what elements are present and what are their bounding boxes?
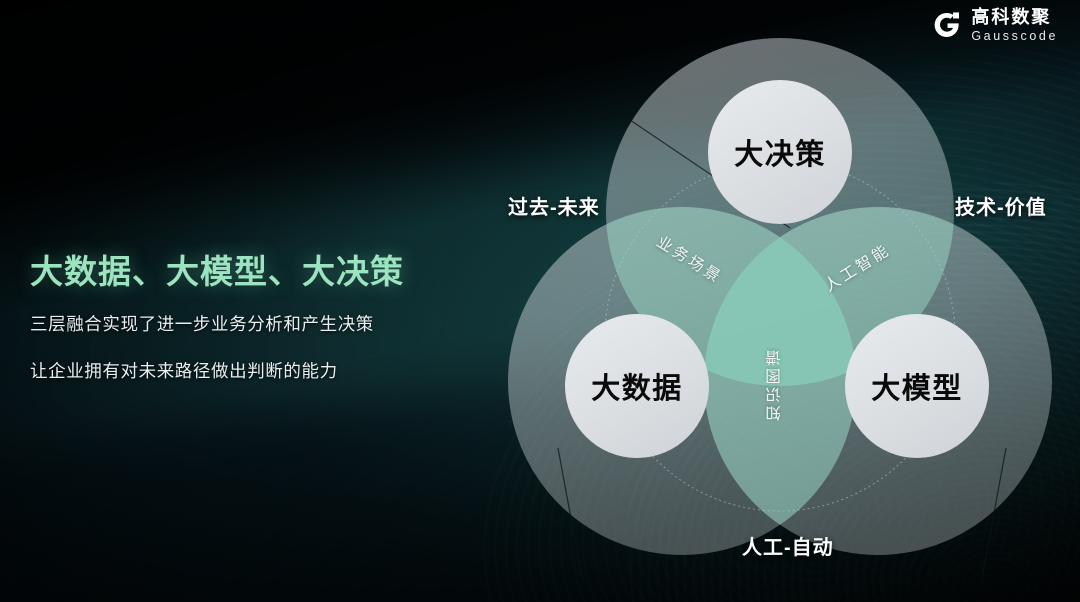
axis-label-manual-auto: 人工-自动 [742, 531, 834, 560]
slide-root: 高科数聚 Gausscode 大数据、大模型、大决策 三层融合实现了进一步业务分… [0, 0, 1080, 602]
left-text-block: 大数据、大模型、大决策 三层融合实现了进一步业务分析和产生决策 让企业拥有对未来… [30, 252, 470, 383]
brand-logo-text: 高科数聚 Gausscode [971, 8, 1058, 43]
venn-label-decision: 大决策 [734, 131, 826, 173]
gausscode-g-mark-icon [932, 10, 962, 40]
venn-overlap-label-knowledge-graph: 知识图谱 [764, 347, 786, 421]
venn-label-bigdata: 大数据 [591, 365, 683, 407]
brand-name-en: Gausscode [971, 30, 1058, 43]
venn-label-bigmodel: 大模型 [871, 365, 963, 407]
subtitle-line-2: 让企业拥有对未来路径做出判断的能力 [30, 358, 470, 383]
brand-name-cn: 高科数聚 [971, 8, 1058, 26]
venn-diagram-svg [490, 18, 1070, 578]
venn-diagram: 大决策 大数据 大模型 业务场景 人工智能 知识图谱 [490, 18, 1070, 578]
page-title: 大数据、大模型、大决策 [30, 252, 470, 292]
axis-label-past-future: 过去-未来 [508, 191, 600, 220]
subtitle-line-1: 三层融合实现了进一步业务分析和产生决策 [30, 311, 470, 336]
brand-logo: 高科数聚 Gausscode [932, 8, 1058, 43]
axis-label-tech-value: 技术-价值 [955, 191, 1047, 220]
